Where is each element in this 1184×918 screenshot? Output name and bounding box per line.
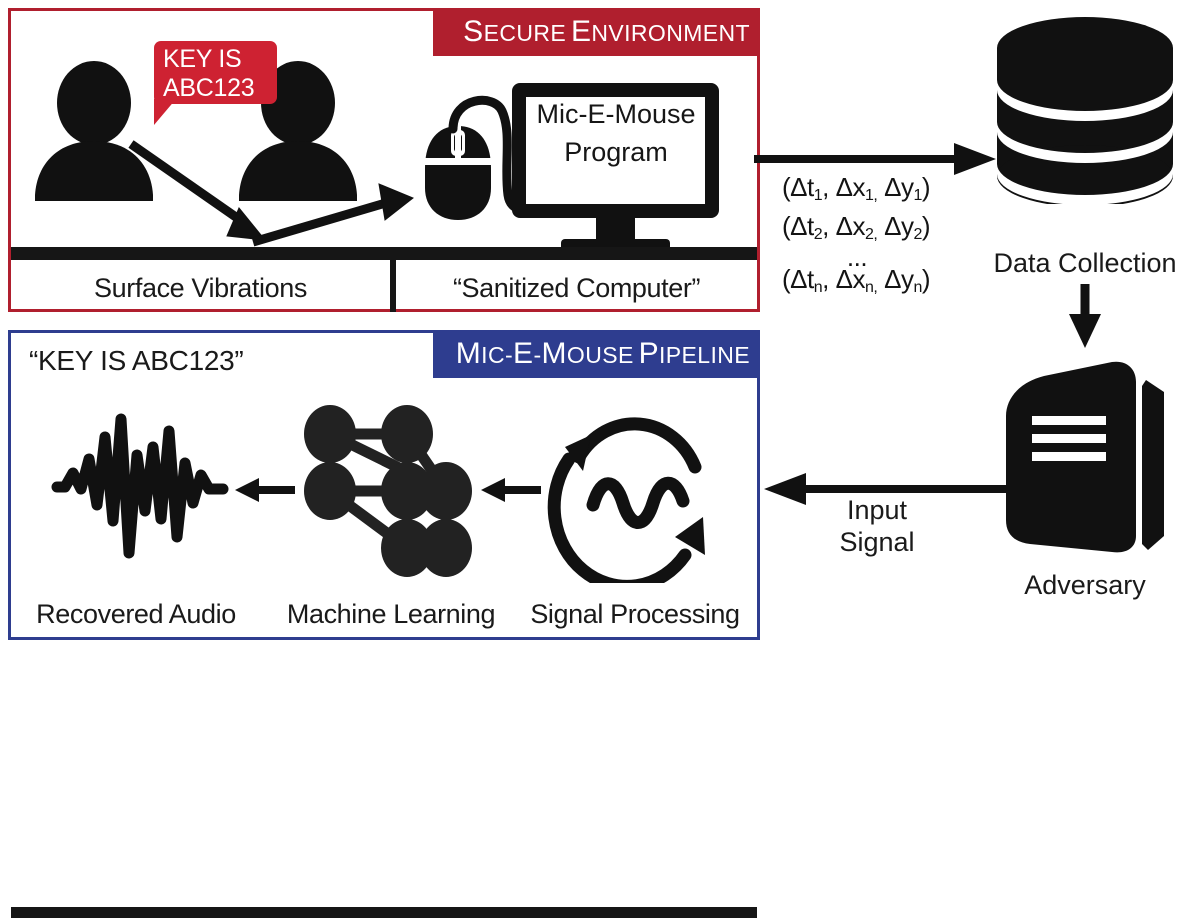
- adversary-server-icon: [1000, 358, 1168, 558]
- arrow-down-icon: [1062, 284, 1108, 350]
- figure-canvas: SECURE ENVIRONMENT KEY IS ABC123: [0, 0, 1184, 648]
- label-recovered-audio: Recovered Audio: [7, 599, 265, 630]
- desk-surface-bar: [11, 247, 757, 260]
- label-sanitized-computer: “Sanitized Computer”: [396, 273, 757, 304]
- label-adversary: Adversary: [995, 570, 1175, 601]
- pipeline-divider-bar: [11, 907, 757, 918]
- speech-bubble-text: KEY IS ABC123: [163, 45, 254, 103]
- neural-network-icon: [297, 401, 479, 581]
- secure-environment-panel: SECURE ENVIRONMENT KEY IS ABC123: [8, 8, 760, 312]
- label-data-collection: Data Collection: [985, 248, 1184, 279]
- recovered-key-text: “KEY IS ABC123”: [29, 345, 243, 377]
- signal-processing-cycle-icon: [545, 405, 723, 583]
- mouse-delta-tuples: (Δt1, Δx1, Δy1) (Δt2, Δx2, Δy2) ... (Δtn…: [782, 172, 982, 303]
- secure-environment-title: SECURE ENVIRONMENT: [463, 15, 750, 49]
- label-surface-vibrations: Surface Vibrations: [11, 273, 390, 304]
- tuple-row: (Δt1, Δx1, Δy1): [782, 172, 982, 211]
- label-machine-learning: Machine Learning: [263, 599, 519, 630]
- key-speech-bubble: KEY IS ABC123: [154, 41, 277, 104]
- label-signal-processing: Signal Processing: [511, 599, 759, 630]
- monitor-screen-label: Mic-E-Mouse Program: [521, 95, 711, 171]
- arrow-left-icon: [479, 473, 545, 507]
- tuple-ellipsis: ...: [782, 250, 932, 264]
- tuple-row: (Δtn, Δxn, Δyn): [782, 264, 982, 303]
- pipeline-header: MIC-E-MOUSE PIPELINE: [433, 330, 760, 378]
- arrow-left-icon: [233, 473, 299, 507]
- waveform-icon: [51, 411, 231, 561]
- speech-bubble-tail: [154, 99, 176, 125]
- vibration-arrows: [121, 136, 421, 254]
- label-input-signal: Input Signal: [822, 494, 932, 558]
- database-icon: [994, 14, 1176, 204]
- pipeline-title: MIC-E-MOUSE PIPELINE: [456, 337, 750, 371]
- tuple-row: (Δt2, Δx2, Δy2): [782, 211, 982, 250]
- secure-environment-header: SECURE ENVIRONMENT: [433, 8, 760, 56]
- mic-e-mouse-pipeline-panel: MIC-E-MOUSE PIPELINE “KEY IS ABC123”: [8, 330, 760, 640]
